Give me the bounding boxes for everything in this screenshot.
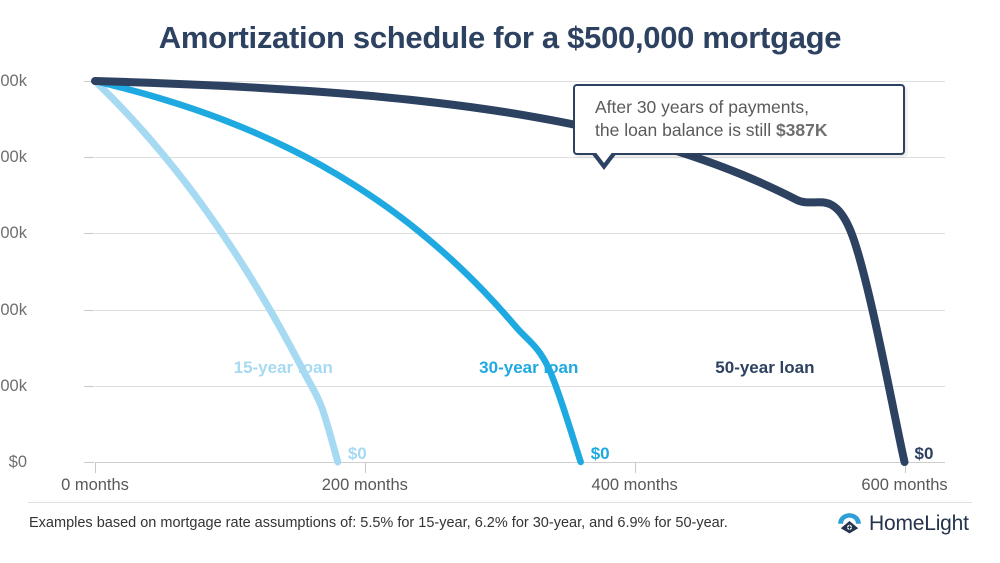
x-axis-tick xyxy=(95,462,96,473)
gridline xyxy=(95,462,945,463)
series-endpoint-label: $0 xyxy=(591,445,610,462)
y-axis-label: $0 xyxy=(9,454,27,471)
x-axis-label: 200 months xyxy=(322,477,408,494)
y-axis-label: $500k xyxy=(0,73,27,90)
page-title: Amortization schedule for a $500,000 mor… xyxy=(0,20,1000,56)
callout-pointer-fill xyxy=(594,150,614,163)
y-axis-label: $200k xyxy=(0,302,27,319)
footer-divider xyxy=(28,502,972,503)
y-axis-tick xyxy=(84,386,94,387)
homelight-house-icon xyxy=(836,510,863,537)
x-axis-tick xyxy=(365,462,366,473)
x-axis-label: 600 months xyxy=(861,477,947,494)
annotation-value: $387K xyxy=(776,120,828,140)
annotation-text: After 30 years of payments, the loan bal… xyxy=(595,96,889,142)
annotation-line-2-prefix: the loan balance is still xyxy=(595,120,776,140)
y-axis-label: $400k xyxy=(0,149,27,166)
amortization-chart: Amortization schedule for a $500,000 mor… xyxy=(0,0,1000,563)
footnote: Examples based on mortgage rate assumpti… xyxy=(29,515,728,531)
y-axis-tick xyxy=(84,233,94,234)
series-line xyxy=(95,81,338,462)
series-label: 15-year loan xyxy=(173,359,333,376)
annotation-line-1: After 30 years of payments, xyxy=(595,97,809,117)
x-axis-label: 0 months xyxy=(61,477,129,494)
y-axis-tick xyxy=(84,157,94,158)
x-axis-tick xyxy=(635,462,636,473)
series-endpoint-label: $0 xyxy=(915,445,934,462)
series-endpoint-label: $0 xyxy=(348,445,367,462)
series-line xyxy=(95,81,581,462)
y-axis-label: $100k xyxy=(0,378,27,395)
homelight-wordmark: HomeLight xyxy=(869,513,969,534)
y-axis-label: $300k xyxy=(0,225,27,242)
y-axis-tick xyxy=(84,462,94,463)
x-axis-label: 400 months xyxy=(592,477,678,494)
series-label: 30-year loan xyxy=(418,359,578,376)
annotation-callout: After 30 years of payments, the loan bal… xyxy=(573,84,905,155)
y-axis-tick xyxy=(84,310,94,311)
series-label: 50-year loan xyxy=(655,359,815,376)
homelight-logo: HomeLight xyxy=(836,510,969,537)
